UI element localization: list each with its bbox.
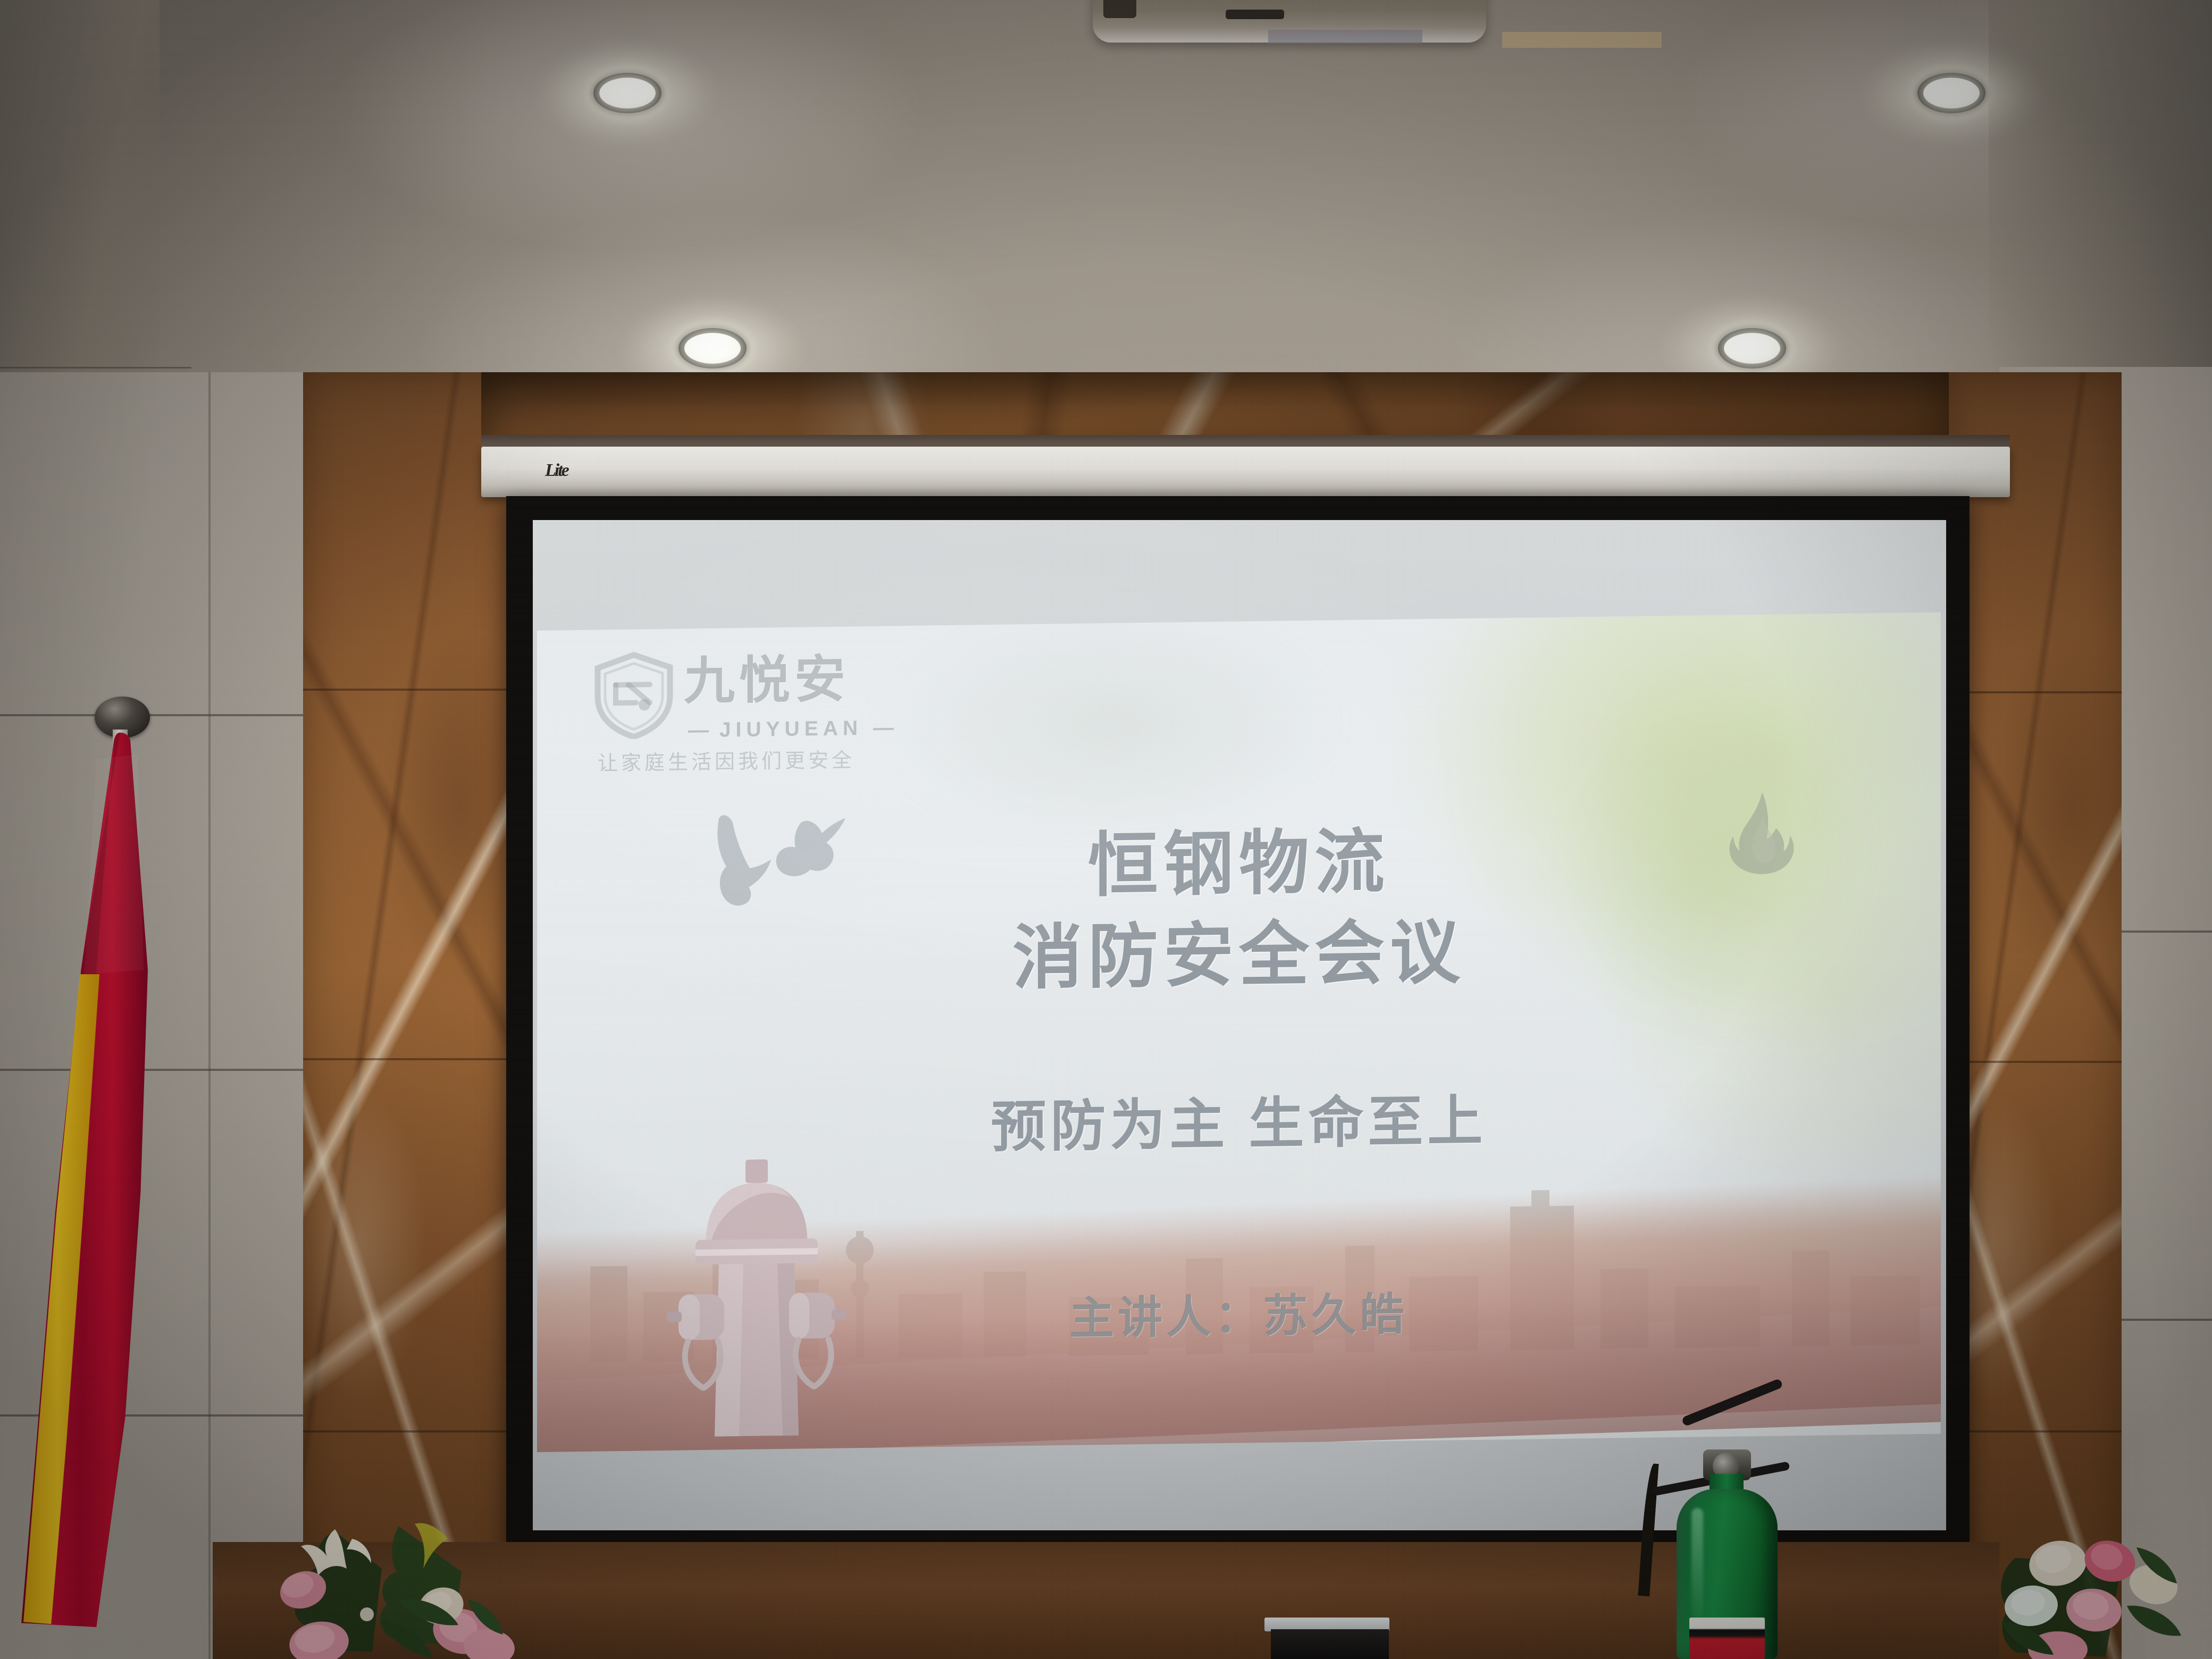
downlight-lamp-icon [599,78,656,108]
flower-arrangement-left [239,1521,569,1659]
podium-device-base [1271,1629,1389,1659]
shield-icon [594,651,673,740]
fire-extinguisher [1646,1414,1805,1659]
extinguisher-label [1689,1618,1765,1659]
brand-tagline: 让家庭生活因我们更安全 [598,743,855,776]
marble-column-right [1946,372,2122,1659]
ceiling-seam-left [0,367,191,368]
slide-cloud-wash [867,612,1345,828]
downlight-lamp-icon [684,333,741,364]
screen-housing: Lite [481,447,2010,497]
flag-cloth [16,728,218,1659]
downlight-lamp-icon [1923,78,1980,108]
marble-seam-r3 [1946,1430,2122,1432]
logo-dash-right: — [873,716,894,740]
projector-label-a [1268,30,1422,44]
brand-name-latin: — JIUYUEAN — [688,716,894,742]
slide-title-line-2: 消防安全会议 [537,900,1941,1010]
flower-arrangement-right [1994,1526,2212,1659]
projector-label-b [1502,32,1662,48]
projector-lens-icon [1226,10,1284,19]
slide-subtitle: 预防为主 生命至上 [537,1069,1941,1168]
downlight-lamp-icon [1724,333,1780,364]
conference-room-scene: Lite [0,0,2212,1659]
brand-logo: 九悦安 — JIUYUEAN — 让家庭生活因我们更安全 [594,646,935,759]
slide-title-line-1: 恒钢物流 [537,809,1941,918]
presentation-slide[interactable]: 九悦安 — JIUYUEAN — 让家庭生活因我们更安全 [537,612,1941,1452]
marble-column-left [303,372,521,1659]
marble-seam-l3 [303,1430,521,1432]
ceiling-downlight-3 [665,319,760,378]
red-flag [16,697,218,1659]
ceiling-projector [1093,0,1486,43]
projector-mount [1103,0,1136,18]
slide-title-block: 恒钢物流 消防安全会议 [537,809,1941,1010]
ceiling-edge-left [0,0,160,415]
flowers-left-icon [239,1521,569,1659]
flowers-right-icon [1994,1526,2212,1659]
ceiling-edge-right [1989,0,2212,372]
screen-brand-label: Lite [545,460,568,481]
brand-latin-text: JIUYUEAN [719,717,862,742]
marble-seam-r2 [1946,1061,2122,1063]
ceiling-downlight-1 [580,64,675,122]
marble-seam-r1 [1946,691,2122,693]
ceiling-downlight-2 [1904,64,1999,122]
brand-name-cn: 九悦安 [684,654,850,707]
extinguisher-highlight [1691,1508,1703,1620]
marble-seam-l1 [303,689,521,691]
ceiling-downlight-4 [1704,319,1800,378]
logo-dash-left: — [688,719,709,742]
marble-seam-l2 [303,1058,521,1060]
